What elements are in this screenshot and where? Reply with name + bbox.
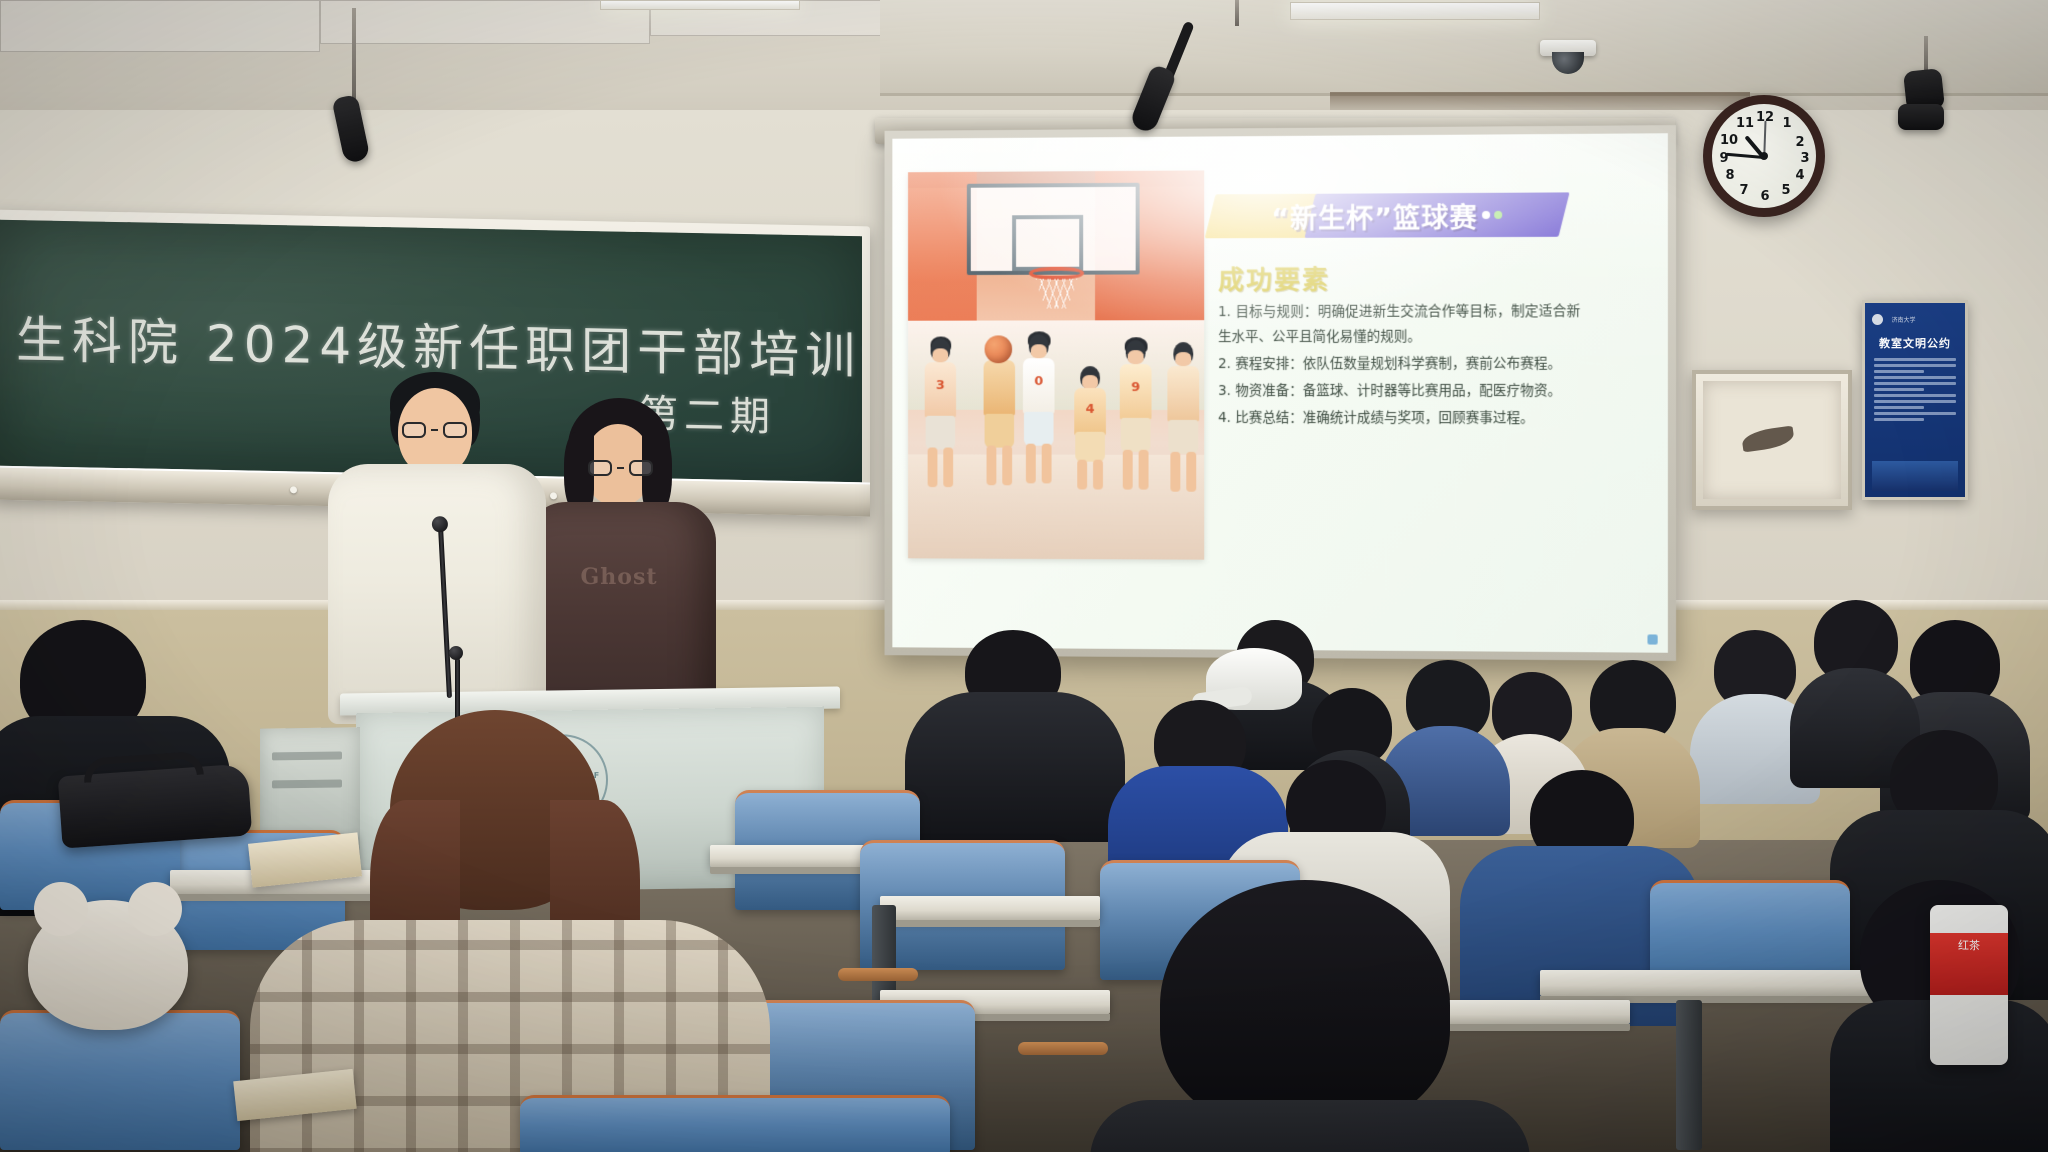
jersey-number: 4 (1086, 402, 1095, 417)
display-cabinet (1692, 370, 1852, 510)
basketball-player: 0 (1022, 334, 1056, 499)
lecture-seat[interactable] (520, 1095, 950, 1152)
slide-bullet: 3. 物资准备：备篮球、计时器等比赛用品，配医疗物资。 (1218, 379, 1580, 404)
projection-screen: 3 0 (892, 133, 1668, 653)
poster-campus-photo (1872, 461, 1958, 491)
desk-edge (880, 920, 1100, 927)
ceiling-light-panel (600, 0, 800, 10)
poster-title: 教室文明公约 (1872, 335, 1958, 351)
slide-title-text: “新生杯”篮球赛 (1271, 195, 1477, 235)
microphone-head[interactable] (449, 646, 463, 660)
clock-numeral: 8 (1722, 168, 1738, 183)
sweater-print: Ghost (544, 564, 694, 590)
drink-bottle[interactable]: 红茶 (1930, 905, 2008, 1065)
plush-ear (34, 882, 88, 936)
slide-bullet: 2. 赛程安排：依队伍数量规划科学赛制，赛前公布赛程。 (1218, 352, 1580, 377)
slide-bullet: 4. 比赛总结：准确统计成绩与奖项，回顾赛事过程。 (1218, 406, 1580, 431)
classroom-scene: 生科院 2024级新任职团干部培训会 第二期 (0, 0, 2048, 1152)
backboard-square (1012, 215, 1083, 271)
poster-text-line (1874, 358, 1956, 361)
basketball (985, 335, 1013, 363)
seat-support-post (1676, 1000, 1702, 1150)
basketball-rim (1029, 267, 1084, 280)
ceiling-light-panel (1290, 2, 1540, 20)
banner-dot-icon (1482, 211, 1490, 219)
camera-dome (1552, 52, 1584, 74)
bottle-label: 红茶 (1930, 933, 2008, 995)
seat-armrest (838, 968, 918, 981)
presenter-a (370, 368, 550, 738)
torso (905, 692, 1125, 842)
audience-member-foreground (1090, 880, 1530, 1152)
tablet-desk[interactable] (880, 896, 1100, 920)
poster-header: 济南大学 (1872, 311, 1958, 329)
clock-numeral: 5 (1778, 183, 1794, 198)
security-camera-icon (1540, 40, 1596, 74)
basketball-photo: 3 0 (908, 170, 1204, 559)
glasses-icon (588, 460, 653, 476)
clock-numeral: 10 (1720, 133, 1736, 148)
clock-numeral: 7 (1736, 183, 1752, 198)
wall-clock: 12 1 2 3 4 5 6 7 8 9 10 11 (1703, 95, 1825, 217)
torso (328, 464, 546, 724)
basketball-player: 9 (1119, 340, 1153, 497)
poster-text-line (1874, 364, 1956, 367)
poster-text-line (1874, 406, 1924, 409)
basketball-player: 3 (924, 338, 957, 487)
clock-numeral: 1 (1779, 116, 1795, 131)
presenter-b: Ghost (558, 398, 718, 738)
chalk-piece (550, 492, 557, 499)
backpack[interactable] (58, 763, 253, 848)
speaker-mount-rod (352, 8, 356, 100)
slide-title: “新生杯”篮球赛 (1210, 192, 1564, 238)
university-logo-icon (1872, 314, 1883, 325)
audience-member (905, 630, 1125, 820)
jersey-number: 0 (1034, 374, 1043, 389)
basketball-player: 4 (1073, 362, 1107, 489)
projection-screen-frame: 3 0 (885, 125, 1677, 661)
jersey-number: 3 (936, 378, 945, 393)
head (1160, 880, 1450, 1130)
poster-text-line (1874, 394, 1956, 397)
clock-numeral: 2 (1792, 135, 1808, 150)
bottle-label-text: 红茶 (1930, 933, 2008, 953)
poster-text-line (1874, 412, 1956, 415)
basketball-backboard (967, 183, 1140, 275)
plush-toy[interactable] (28, 900, 188, 1030)
seat-backrest[interactable] (520, 1095, 950, 1152)
clock-face: 12 1 2 3 4 5 6 7 8 9 10 11 (1712, 104, 1816, 208)
poster-text-line (1874, 382, 1956, 385)
presentation-slide: 3 0 (892, 133, 1668, 653)
clock-numeral: 11 (1736, 116, 1752, 131)
poster-text-line (1874, 400, 1956, 403)
torso (1090, 1100, 1530, 1152)
clock-numeral: 3 (1797, 151, 1813, 166)
clock-numeral: 6 (1757, 189, 1773, 204)
plush-ear (128, 882, 182, 936)
glasses-icon (402, 422, 467, 438)
jersey-number: 9 (1131, 380, 1140, 395)
clock-center-pin (1760, 152, 1768, 160)
clock-numeral: 4 (1792, 168, 1808, 183)
poster-text-line (1874, 376, 1956, 379)
poster-brand: 济南大学 (1891, 315, 1915, 324)
seat-backrest[interactable] (0, 1010, 240, 1150)
classroom-rules-poster: 济南大学 教室文明公约 (1862, 300, 1968, 500)
poster-text-line (1874, 418, 1924, 421)
projector-status-indicator (1647, 634, 1657, 644)
poster-text-line (1874, 370, 1924, 373)
speaker-mount-rod (1235, 0, 1239, 26)
ceiling-speaker (1898, 104, 1944, 130)
basketball-player (1166, 342, 1200, 494)
basketball-net (1036, 279, 1077, 309)
chalk-piece (290, 486, 297, 493)
slide-body-text: 1. 目标与规则：明确促进新生交流合作等目标，制定适合新生水平、公平且简化易懂的… (1218, 299, 1580, 433)
ceiling-tile (0, 0, 320, 52)
slide-bullet: 1. 目标与规则：明确促进新生交流合作等目标，制定适合新生水平、公平且简化易懂的… (1218, 299, 1580, 350)
lecture-seat[interactable] (0, 1010, 240, 1150)
slide-title-banner: “新生杯”篮球赛 (1210, 192, 1564, 238)
poster-text-line (1874, 388, 1924, 391)
banner-dot-icon (1494, 211, 1502, 219)
slide-section-heading: 成功要素 (1218, 260, 1330, 297)
